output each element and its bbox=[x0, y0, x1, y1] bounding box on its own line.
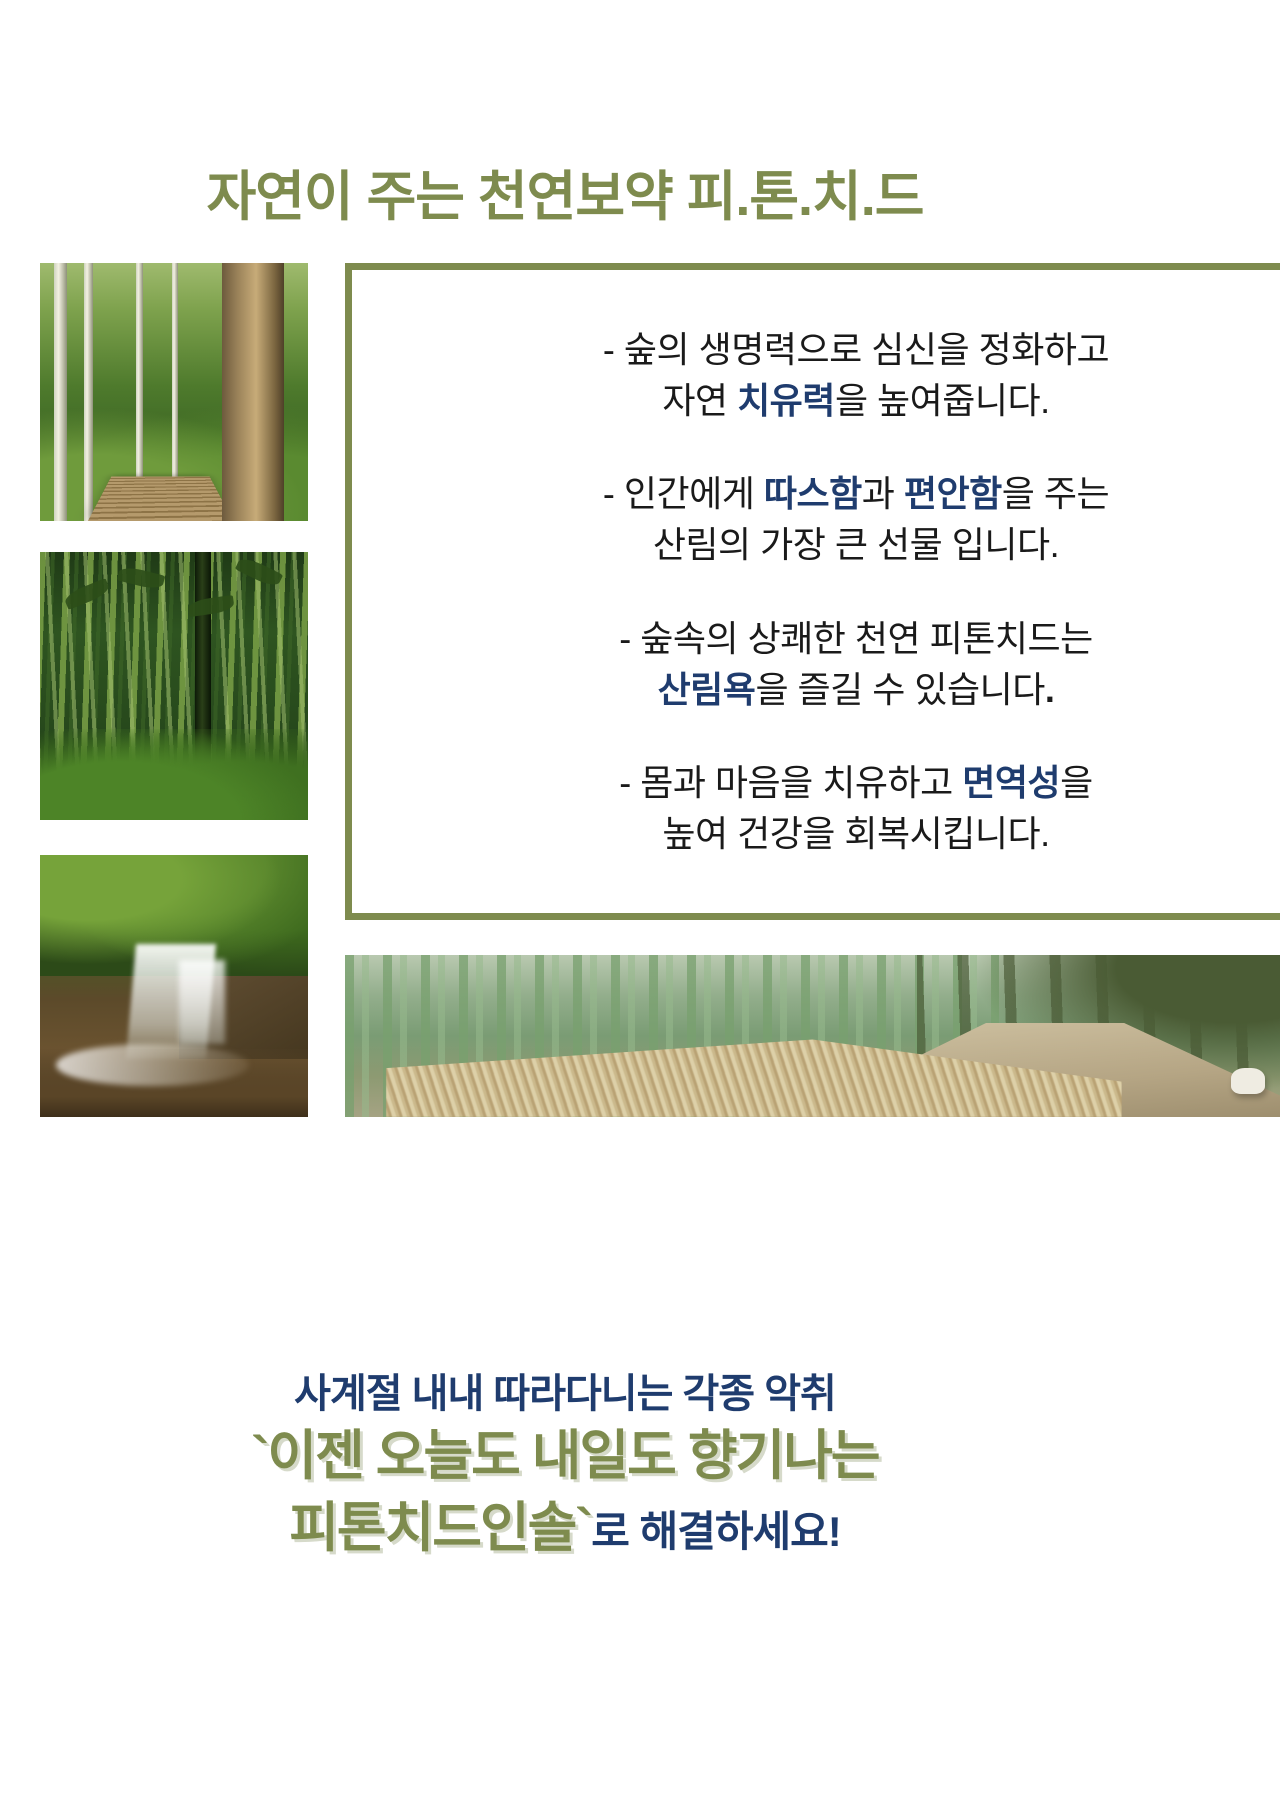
benefit-2-line-2: 산림의 가장 큰 선물 입니다. bbox=[603, 519, 1109, 570]
benefit-item-3: - 숲속의 상쾌한 천연 피톤치드는 산림욕을 즐길 수 있습니다. bbox=[599, 613, 1113, 715]
benefit-3-line-2-post: 을 즐길 수 있습니다 bbox=[755, 669, 1044, 710]
benefit-4-line-2: 높여 건강을 회복시킵니다. bbox=[619, 808, 1093, 859]
benefit-2-highlight-2: 편안함 bbox=[904, 473, 1002, 514]
page-title: 자연이 주는 천연보약 피.톤.치.드 bbox=[0, 152, 1130, 231]
birch-trunk-icon bbox=[84, 263, 93, 521]
benefit-1-line-1: - 숲의 생명력으로 심신을 정화하고 bbox=[603, 324, 1109, 375]
slogan-line-2: `이젠 오늘도 내일도 향기나는 bbox=[0, 1424, 1130, 1490]
benefit-item-2: - 인간에게 따스함과 편안함을 주는 산림의 가장 큰 선물 입니다. bbox=[583, 468, 1129, 570]
waterfall-photo bbox=[40, 855, 308, 1117]
bamboo-undergrowth bbox=[40, 729, 308, 820]
benefit-2-line-1-mid: 과 bbox=[862, 473, 904, 514]
benefit-4-line-1-pre: - 몸과 마음을 치유하고 bbox=[619, 762, 962, 803]
benefit-2-highlight-1: 따스함 bbox=[764, 473, 862, 514]
benefit-2-line-1: - 인간에게 따스함과 편안함을 주는 bbox=[603, 468, 1109, 519]
benefit-1-line-2: 자연 치유력을 높여줍니다. bbox=[603, 375, 1109, 426]
product-name: 피톤치드인솔` bbox=[289, 1498, 591, 1558]
large-tree-trunk-icon bbox=[222, 263, 284, 521]
benefit-3-line-1: - 숲속의 상쾌한 천연 피톤치드는 bbox=[619, 613, 1093, 664]
benefit-item-1: - 숲의 생명력으로 심신을 정화하고 자연 치유력을 높여줍니다. bbox=[583, 324, 1129, 426]
benefits-box: - 숲의 생명력으로 심신을 정화하고 자연 치유력을 높여줍니다. - 인간에… bbox=[345, 263, 1280, 920]
benefit-item-4: - 몸과 마음을 치유하고 면역성을 높여 건강을 회복시킵니다. bbox=[599, 757, 1113, 859]
benefit-1-highlight: 치유력 bbox=[737, 380, 835, 421]
benefit-3-line-2: 산림욕을 즐길 수 있습니다. bbox=[619, 664, 1093, 715]
creek-water bbox=[56, 1044, 249, 1086]
benefit-3-period: . bbox=[1045, 669, 1055, 710]
benefit-4-line-1-post: 을 bbox=[1060, 762, 1093, 803]
slogan-line-3: 피톤치드인솔`로 해결하세요! bbox=[0, 1496, 1130, 1562]
slogan-call-to-action: 로 해결하세요! bbox=[591, 1508, 841, 1555]
benefit-3-highlight: 산림욕 bbox=[658, 669, 756, 710]
benefit-4-line-1: - 몸과 마음을 치유하고 면역성을 bbox=[619, 757, 1093, 808]
bamboo-path-banner-photo bbox=[345, 955, 1280, 1117]
bamboo-grove-photo bbox=[40, 552, 308, 820]
birch-trunk-icon bbox=[54, 263, 67, 521]
boardwalk-path bbox=[88, 477, 233, 521]
benefit-2-line-1-post: 을 주는 bbox=[1002, 473, 1109, 514]
benefit-1-line-2-pre: 자연 bbox=[662, 380, 737, 421]
footer-slogan: 사계절 내내 따라다니는 각종 악취 `이젠 오늘도 내일도 향기나는 피톤치드… bbox=[0, 1370, 1130, 1562]
waterfall-stream-icon bbox=[179, 960, 225, 1044]
forest-boardwalk-photo bbox=[40, 263, 308, 521]
benefit-4-highlight: 면역성 bbox=[962, 762, 1060, 803]
benefit-2-line-1-pre: - 인간에게 bbox=[603, 473, 764, 514]
slogan-line-1: 사계절 내내 따라다니는 각종 악취 bbox=[0, 1370, 1130, 1418]
banner-person-figure bbox=[1231, 1068, 1265, 1094]
benefit-1-line-2-post: 을 높여줍니다. bbox=[835, 380, 1050, 421]
